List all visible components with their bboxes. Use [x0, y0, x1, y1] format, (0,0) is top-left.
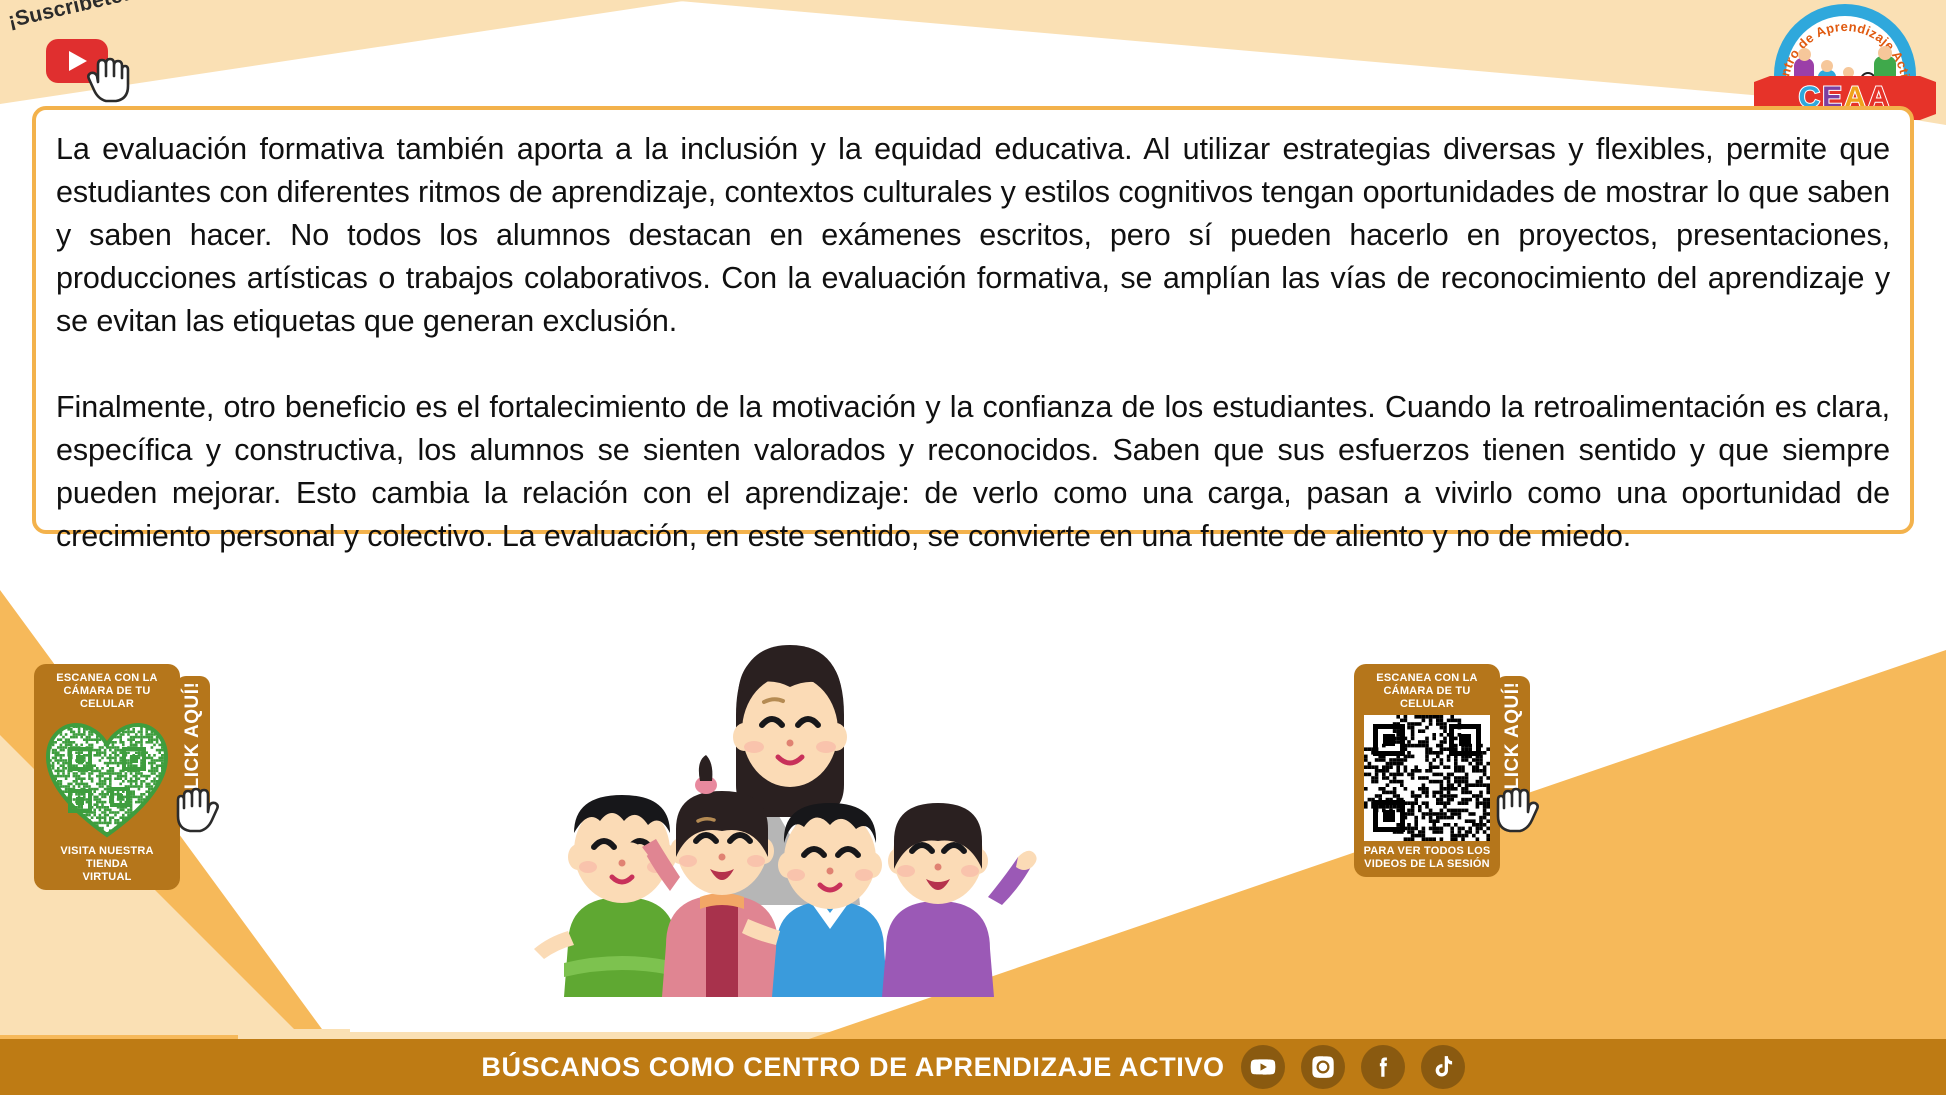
pointing-hand-icon — [86, 52, 130, 104]
paragraph-2: Finalmente, otro beneficio es el fortale… — [56, 386, 1890, 558]
qr-right-bottom-line-1: PARA VER TODOS LOS — [1362, 845, 1492, 858]
qr-right-bottom-line-2: VIDEOS DE LA SESIÓN — [1362, 858, 1492, 871]
instagram-icon[interactable] — [1301, 1045, 1345, 1089]
subscribe-label: ¡Suscríbete! — [6, 0, 132, 33]
qr-left-top-line-2: CÁMARA DE TU CELULAR — [42, 685, 172, 711]
ceaa-logo: Centro de Aprendizaje Activo CEAA — [1752, 2, 1938, 120]
qr-left-bottom-line-2: TIENDA — [42, 858, 172, 871]
slide-canvas: ¡Suscríbete! Centro de Aprendizaje Activ… — [0, 0, 1946, 1095]
tienda-virtual-qr-card[interactable]: ESCANEA CON LA CÁMARA DE TU CELULAR — [34, 664, 180, 890]
qr-left-top-line-1: ESCANEA CON LA — [42, 672, 172, 685]
pointing-hand-icon-left — [176, 782, 220, 834]
qr-right-top-line-1: ESCANEA CON LA — [1362, 672, 1492, 685]
videos-sesion-qr-card[interactable]: ESCANEA CON LA CÁMARA DE TU CELULAR PARA… — [1354, 664, 1500, 877]
qr-left-bottom-line-1: VISITA NUESTRA — [42, 845, 172, 858]
heart-qr-code-icon[interactable] — [44, 715, 170, 841]
qr-right-top-line-2: CÁMARA DE TU CELULAR — [1362, 685, 1492, 711]
square-qr-code-icon[interactable] — [1364, 715, 1490, 841]
qr-left-bottom-line-3: VIRTUAL — [42, 871, 172, 884]
footer-text: BÚSCANOS COMO CENTRO DE APRENDIZAJE ACTI… — [481, 1052, 1224, 1083]
facebook-icon[interactable] — [1361, 1045, 1405, 1089]
figure-child-green — [534, 795, 680, 997]
paragraph-1: La evaluación formativa también aporta a… — [56, 128, 1890, 343]
youtube-icon[interactable] — [1241, 1045, 1285, 1089]
figure-child-purple — [882, 803, 1037, 997]
subscribe-badge[interactable]: ¡Suscríbete! — [4, 6, 154, 98]
bottom-bar-notch — [238, 1029, 350, 1039]
main-text-card: La evaluación formativa también aporta a… — [32, 106, 1914, 534]
tiktok-icon[interactable] — [1421, 1045, 1465, 1089]
pointing-hand-icon-right — [1496, 782, 1540, 834]
teacher-and-children-illustration — [530, 545, 1050, 1032]
bottom-bar: BÚSCANOS COMO CENTRO DE APRENDIZAJE ACTI… — [0, 1039, 1946, 1095]
